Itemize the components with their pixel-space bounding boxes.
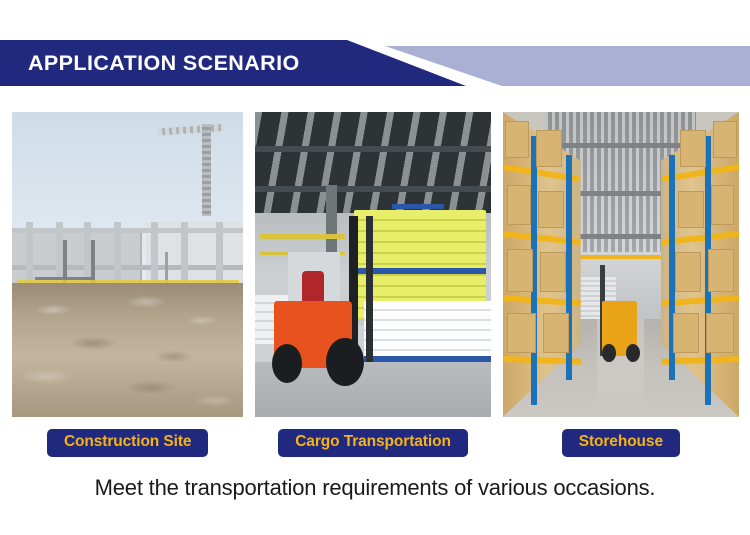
ceiling-truss: [545, 143, 696, 148]
blue-pallet: [354, 268, 486, 274]
cardboard-box: [507, 313, 535, 353]
label-construction-site[interactable]: Construction Site: [47, 429, 208, 456]
yellow-guardrail: [260, 234, 345, 239]
cargo-transportation-photo: [255, 112, 490, 417]
scenario-label-row: Construction Site Cargo Transportation S…: [12, 429, 739, 457]
cardboard-box: [543, 313, 569, 353]
structure-beam: [12, 265, 243, 270]
cardboard-box: [675, 252, 701, 292]
storehouse-photo: [503, 112, 739, 417]
cardboard-box: [713, 121, 737, 158]
cardboard-box: [711, 185, 735, 225]
caption-text: Meet the transportation requirements of …: [0, 475, 750, 501]
cardboard-box: [538, 191, 564, 228]
label-cell-construction-site: Construction Site: [12, 429, 243, 457]
scenario-image-row: [12, 112, 739, 417]
cardboard-box: [507, 249, 533, 292]
label-cargo-transportation[interactable]: Cargo Transportation: [278, 429, 468, 456]
white-sack-load: [364, 301, 491, 362]
blue-pallet: [392, 204, 444, 209]
roof-beam: [255, 146, 490, 152]
cardboard-box: [678, 191, 704, 228]
header-banner: APPLICATION SCENARIO: [0, 40, 750, 86]
roof-beam: [255, 186, 490, 192]
crane-mast: [202, 124, 211, 216]
structure-beam: [12, 228, 243, 233]
roof-structure: [255, 112, 490, 213]
page-title: APPLICATION SCENARIO: [28, 40, 300, 86]
earth-ground: [12, 283, 243, 417]
forklift-tire: [626, 344, 640, 362]
cardboard-box: [505, 121, 529, 158]
cardboard-box: [708, 249, 734, 292]
construction-site-photo: [12, 112, 243, 417]
forklift-tire: [326, 338, 364, 387]
label-cell-cargo-transportation: Cargo Transportation: [255, 429, 490, 457]
forklift-mast: [366, 216, 373, 362]
cardboard-box: [540, 252, 566, 292]
cardboard-box: [507, 185, 531, 225]
cardboard-box: [536, 130, 562, 167]
cardboard-box: [680, 130, 706, 167]
label-storehouse[interactable]: Storehouse: [562, 429, 680, 456]
cardboard-box: [673, 313, 699, 353]
mezzanine-rail: [564, 255, 677, 259]
forklift-tire: [602, 344, 616, 362]
cardboard-box: [706, 313, 734, 353]
label-cell-storehouse: Storehouse: [503, 429, 739, 457]
